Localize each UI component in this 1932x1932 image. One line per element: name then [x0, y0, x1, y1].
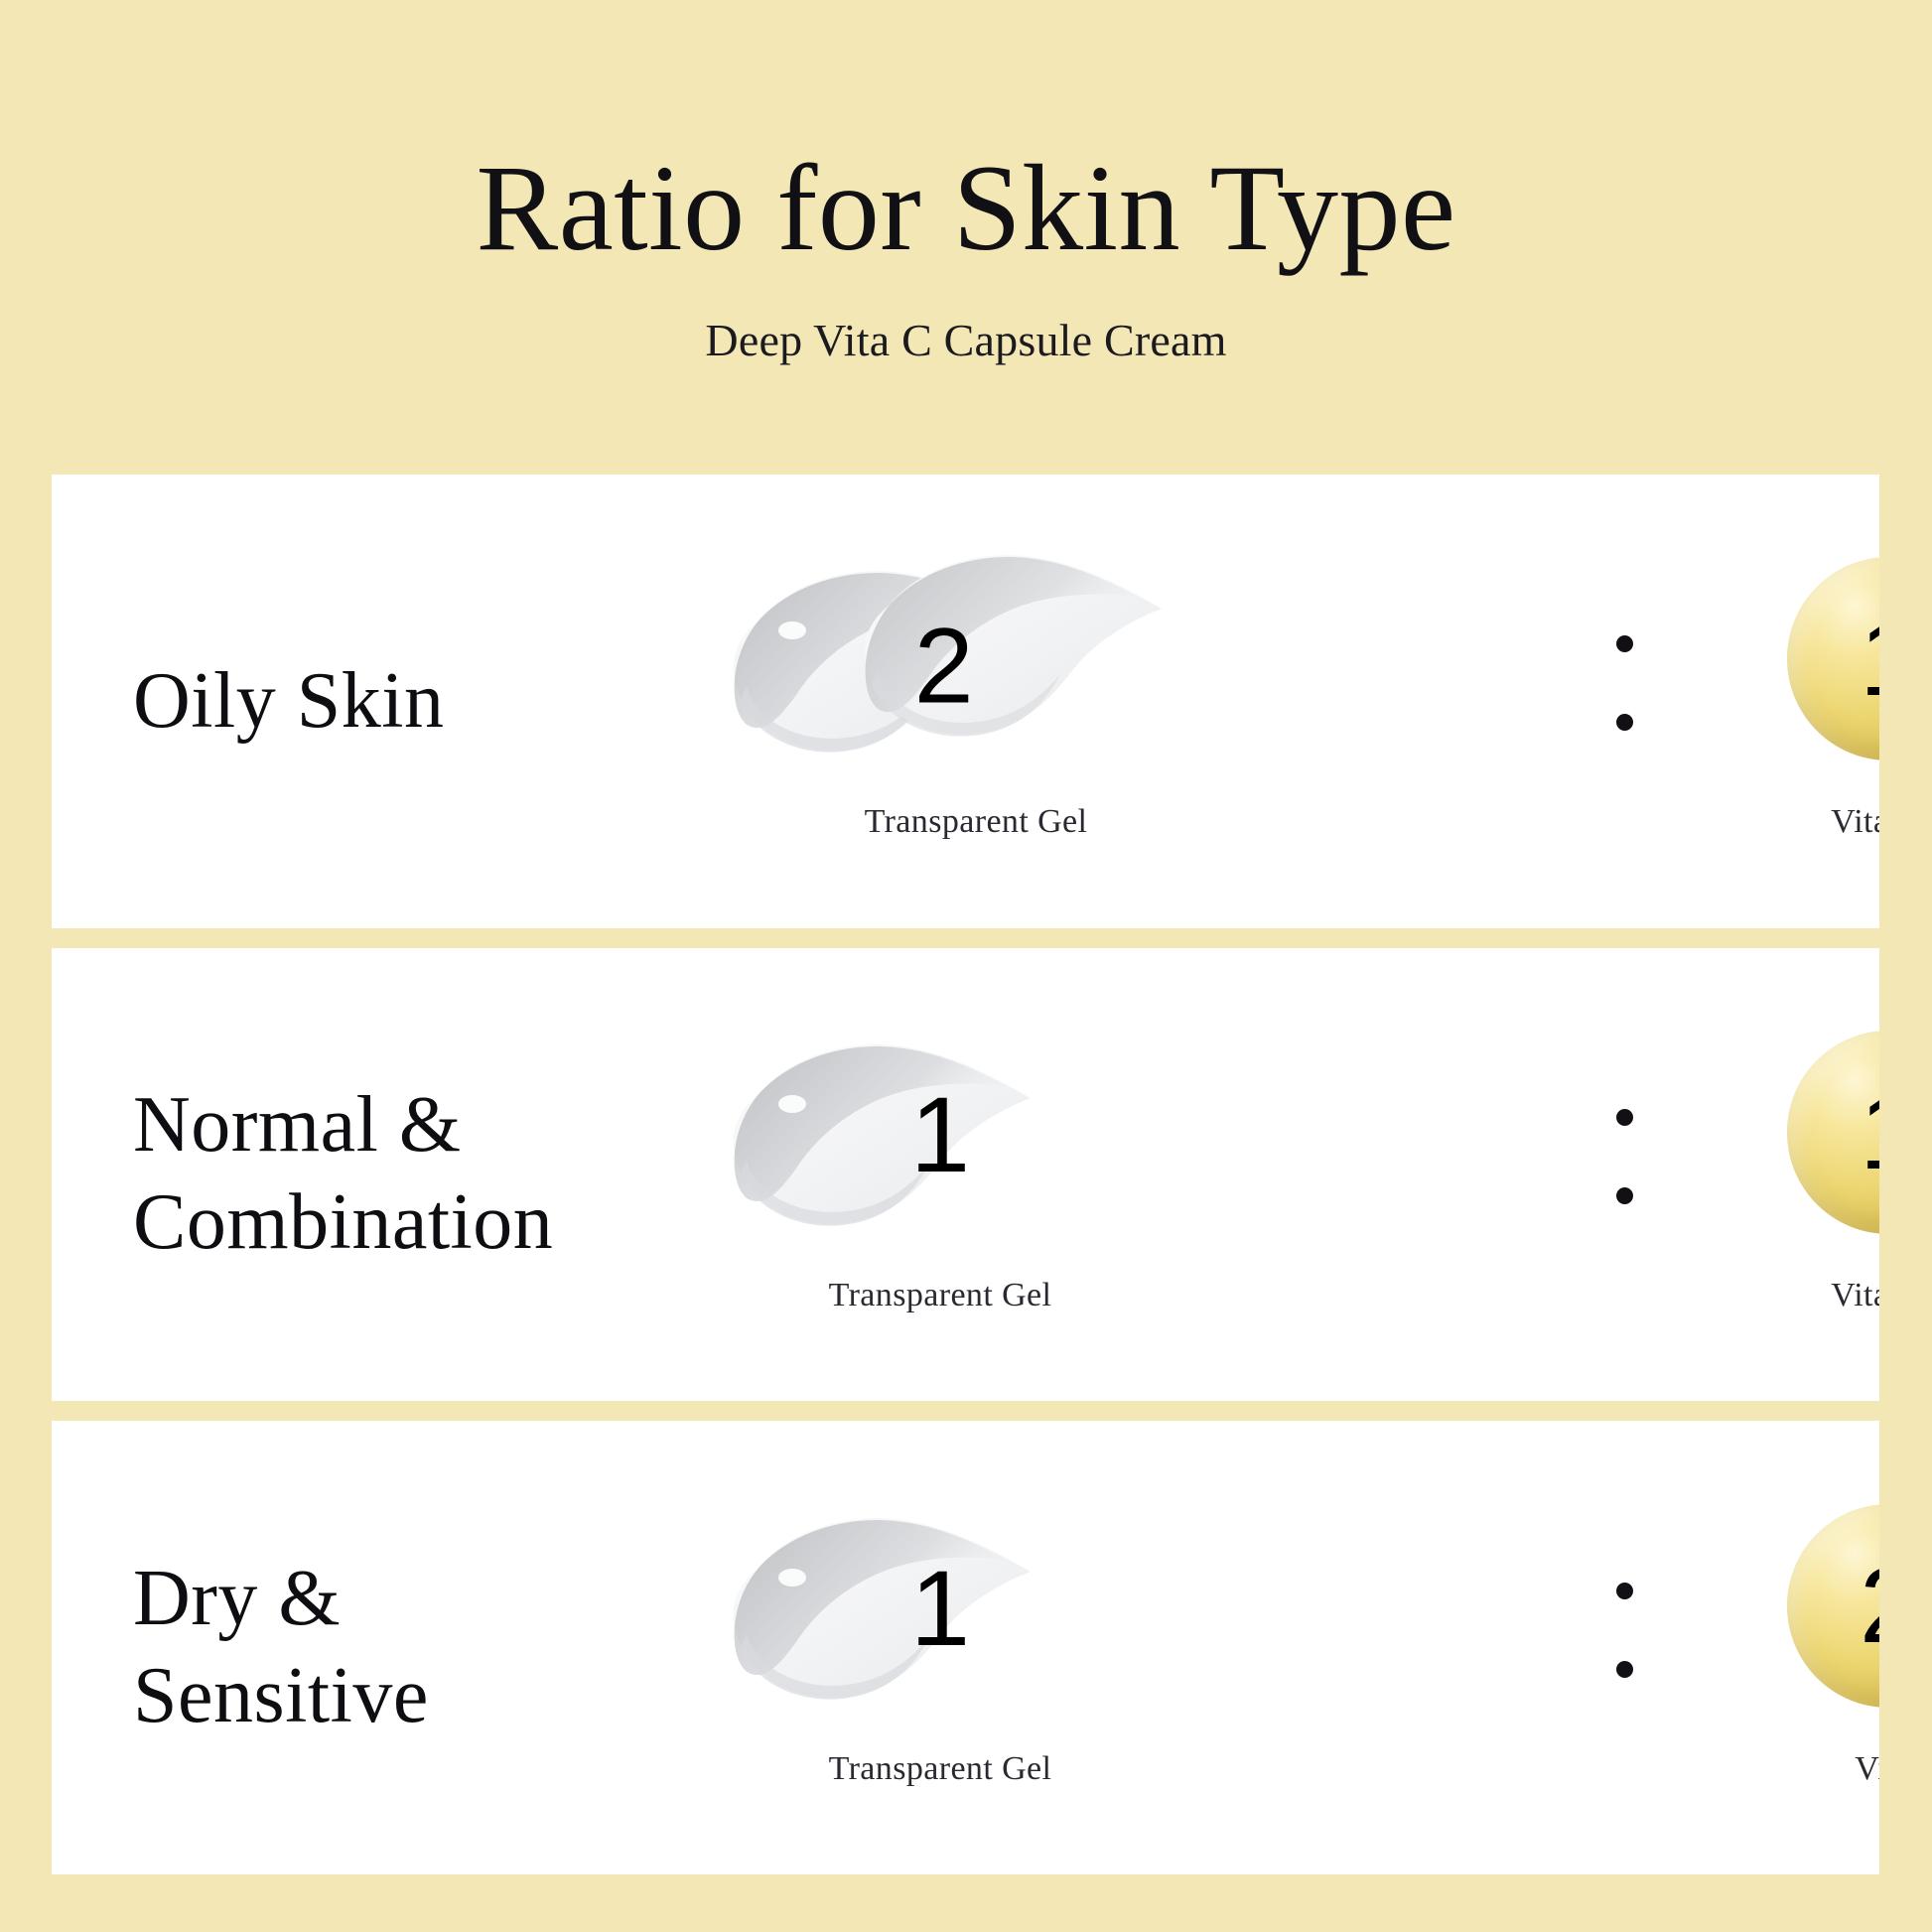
ratio-card-oily-skin[interactable]: Oily Skin	[52, 475, 1879, 928]
capsule-caption: Vitamin C Capsule	[1749, 1277, 1879, 1314]
gel-swatch-icon	[707, 1033, 1035, 1241]
skin-type-label-column: Dry & Sensitive	[52, 1421, 608, 1874]
ratio-card-dry-sensitive[interactable]: Dry & Sensitive 1	[52, 1421, 1879, 1874]
skin-type-line-1: Dry &	[133, 1551, 608, 1648]
gel-caption: Transparent Gel	[707, 1750, 1173, 1788]
gel-swatch-icon	[707, 1506, 1035, 1715]
capsule-count-number: 2	[1860, 1552, 1879, 1659]
gel-count-number: 1	[910, 1555, 970, 1662]
gel-count-number: 1	[910, 1081, 970, 1188]
vitamin-capsule-group: 2 Vitamin C Capsule	[1749, 1484, 1879, 1812]
ratio-card-list: Oily Skin	[52, 475, 1879, 1874]
skin-type-line-1: Normal &	[133, 1077, 608, 1174]
header: Ratio for Skin Type Deep Vita C Capsule …	[0, 0, 1932, 475]
gel-count-number: 2	[914, 613, 974, 720]
colon-dot-bottom	[1616, 1187, 1633, 1204]
vitamin-capsule-group: 1 Vitamin C Capsule	[1749, 1011, 1879, 1338]
transparent-gel-group: 2 Transparent Gel	[707, 537, 1173, 865]
skin-type-label: Dry & Sensitive	[133, 1551, 608, 1744]
ratio-column: 1 Transparent Gel 2 V	[608, 1421, 1879, 1874]
page-subtitle: Deep Vita C Capsule Cream	[705, 318, 1226, 363]
transparent-gel-group: 1 Transparent Gel	[707, 1484, 1173, 1812]
ratio-separator	[1614, 1109, 1634, 1204]
skin-type-label-column: Oily Skin	[52, 475, 608, 928]
capsule-count-number: 1	[1860, 1078, 1879, 1185]
colon-dot-bottom	[1616, 714, 1633, 731]
capsule-caption: Vitamin C Capsule	[1749, 803, 1879, 841]
ratio-separator	[1614, 1583, 1634, 1678]
skin-type-label-column: Normal & Combination	[52, 948, 608, 1402]
transparent-gel-group: 1 Transparent Gel	[707, 1011, 1173, 1338]
ratio-column: 1 Transparent Gel 1 Vitamin C Capsul	[608, 948, 1879, 1402]
colon-dot-top	[1616, 635, 1633, 652]
gel-swatch-icon-2	[838, 543, 1166, 752]
gel-caption: Transparent Gel	[743, 803, 1209, 841]
capsule-count-number: 1	[1860, 605, 1879, 712]
page-title: Ratio for Skin Type	[476, 147, 1455, 270]
skin-type-line-1: Oily Skin	[133, 653, 608, 751]
skin-type-line-2: Sensitive	[133, 1648, 608, 1745]
skin-type-line-2: Combination	[133, 1174, 608, 1272]
infographic-page: Ratio for Skin Type Deep Vita C Capsule …	[0, 0, 1932, 1932]
ratio-column: 2 Transparent Gel 1 Vitamin C Capsul	[608, 475, 1879, 928]
vitamin-capsule-group: 1 Vitamin C Capsule	[1749, 537, 1879, 865]
skin-type-label: Normal & Combination	[133, 1077, 608, 1271]
capsule-caption: Vitamin C Capsule	[1773, 1750, 1879, 1788]
ratio-separator	[1614, 635, 1634, 731]
colon-dot-top	[1616, 1583, 1633, 1599]
skin-type-label: Oily Skin	[133, 653, 608, 751]
gel-caption: Transparent Gel	[707, 1277, 1173, 1314]
ratio-card-normal-combination[interactable]: Normal & Combination	[52, 948, 1879, 1402]
colon-dot-bottom	[1616, 1661, 1633, 1678]
colon-dot-top	[1616, 1109, 1633, 1126]
